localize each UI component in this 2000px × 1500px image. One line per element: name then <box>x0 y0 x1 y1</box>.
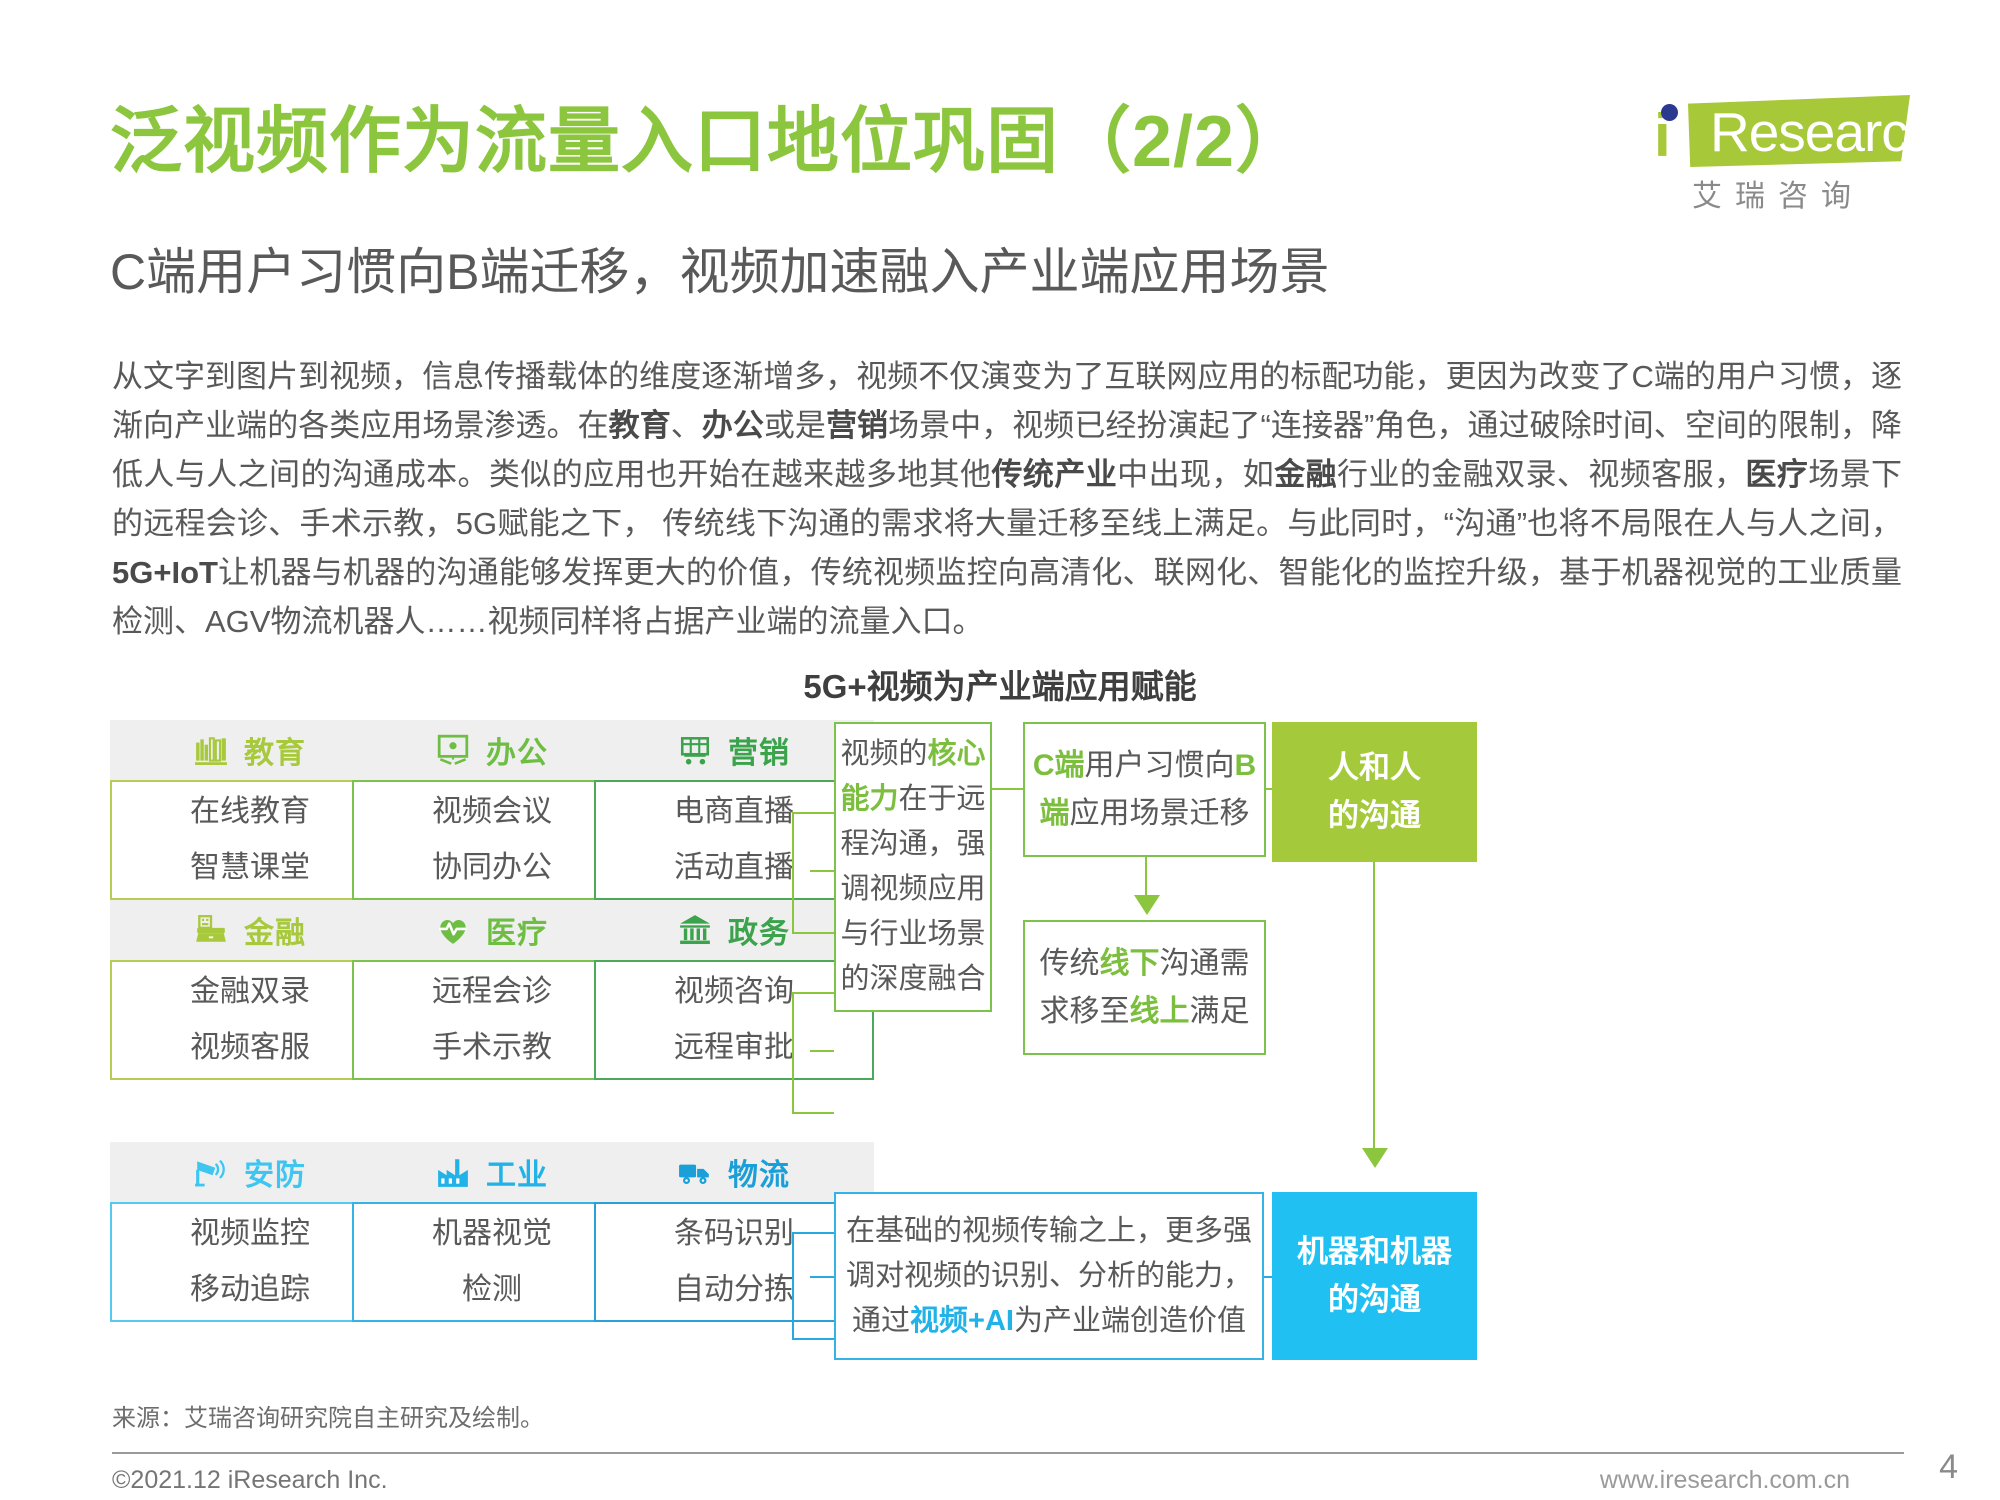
logo-wordmark: Research <box>1710 103 1937 161</box>
category-item: 在线教育 <box>190 784 310 840</box>
category-label: 金融 <box>244 908 306 952</box>
source-note: 来源：艾瑞咨询研究院自主研究及绘制。 <box>112 1398 544 1433</box>
connector-segment <box>792 992 834 994</box>
category-item: 检测 <box>462 1262 522 1318</box>
category-card-营销[interactable]: 营销电商直播活动直播 <box>594 720 874 900</box>
category-items: 视频咨询远程审批 <box>594 960 874 1080</box>
heartbeat-icon <box>436 913 470 947</box>
category-item: 自动分拣 <box>674 1262 794 1318</box>
cart-icon <box>678 733 712 767</box>
category-header: 物流 <box>594 1142 874 1202</box>
page-title: 泛视频作为流量入口地位巩固（2/2） <box>110 82 1308 187</box>
footer-divider <box>112 1452 1904 1454</box>
connector-segment <box>792 812 834 814</box>
category-items: 视频监控移动追踪 <box>110 1202 390 1322</box>
category-item: 移动追踪 <box>190 1262 310 1318</box>
factory-icon <box>436 1155 470 1189</box>
connector-segment <box>810 1050 834 1052</box>
arrow-head-icon <box>1134 895 1160 915</box>
bank-icon <box>678 913 712 947</box>
category-header: 政务 <box>594 900 874 960</box>
connector-segment <box>792 992 794 1114</box>
connector-segment <box>1264 1276 1272 1278</box>
category-header: 营销 <box>594 720 874 780</box>
category-header: 金融 <box>110 900 390 960</box>
right-bottom-box: 传统线下沟通需求移至线上满足 <box>1023 920 1266 1055</box>
category-item: 手术示教 <box>432 1020 552 1076</box>
connector-segment <box>1373 862 1375 1152</box>
cctv-icon <box>194 1155 228 1189</box>
end-green-box: 人和人的沟通 <box>1272 722 1477 862</box>
mid-green-box: 视频的核心能力在于远程沟通，强调视频应用与行业场景的深度融合 <box>834 722 992 1012</box>
category-card-金融[interactable]: 金融金融双录视频客服 <box>110 900 390 1080</box>
mid-blue-text: 在基础的视频传输之上，更多强调对视频的识别、分析的能力，通过视频+AI为产业端创… <box>836 1209 1262 1344</box>
category-label: 物流 <box>728 1150 790 1194</box>
arrow-head-icon <box>1362 1148 1388 1168</box>
category-item: 电商直播 <box>674 784 794 840</box>
category-label: 营销 <box>728 728 790 772</box>
mid-blue-box: 在基础的视频传输之上，更多强调对视频的识别、分析的能力，通过视频+AI为产业端创… <box>834 1192 1264 1360</box>
logo-dot-icon <box>1661 104 1678 121</box>
category-item: 智慧课堂 <box>190 840 310 896</box>
logo-chinese-name: 艾瑞咨询 <box>1692 171 1864 215</box>
category-items: 电商直播活动直播 <box>594 780 874 900</box>
category-label: 医疗 <box>486 908 548 952</box>
connector-segment <box>1145 857 1147 899</box>
category-label: 工业 <box>486 1150 548 1194</box>
category-label: 办公 <box>486 728 548 772</box>
category-items: 机器视觉检测 <box>352 1202 632 1322</box>
connector-segment <box>792 1232 794 1340</box>
connector-segment <box>792 1338 834 1340</box>
category-item: 视频咨询 <box>674 964 794 1020</box>
category-header: 医疗 <box>352 900 632 960</box>
iresearch-logo: i Research 艾瑞咨询 <box>1648 95 1918 205</box>
category-card-政务[interactable]: 政务视频咨询远程审批 <box>594 900 874 1080</box>
category-item: 条码识别 <box>674 1206 794 1262</box>
category-card-医疗[interactable]: 医疗远程会诊手术示教 <box>352 900 632 1080</box>
category-item: 机器视觉 <box>432 1206 552 1262</box>
website-url[interactable]: www.iresearch.com.cn <box>1600 1466 1850 1495</box>
category-label: 安防 <box>244 1150 306 1194</box>
whiteboard-icon <box>436 733 470 767</box>
end-blue-box: 机器和机器的沟通 <box>1272 1192 1477 1360</box>
category-item: 远程会诊 <box>432 964 552 1020</box>
page-subtitle: C端用户习惯向B端迁移，视频加速融入产业端应用场景 <box>110 232 1329 304</box>
connector-segment <box>792 1112 834 1114</box>
body-paragraph: 从文字到图片到视频，信息传播载体的维度逐渐增多，视频不仅演变为了互联网应用的标配… <box>112 352 1902 646</box>
category-item: 视频会议 <box>432 784 552 840</box>
category-card-教育[interactable]: 教育在线教育智慧课堂 <box>110 720 390 900</box>
category-card-安防[interactable]: 安防视频监控移动追踪 <box>110 1142 390 1322</box>
category-header: 教育 <box>110 720 390 780</box>
end-blue-text: 机器和机器的沟通 <box>1297 1228 1452 1324</box>
category-items: 条码识别自动分拣 <box>594 1202 874 1322</box>
category-card-办公[interactable]: 办公视频会议协同办公 <box>352 720 632 900</box>
category-header: 安防 <box>110 1142 390 1202</box>
copyright-text: ©2021.12 iResearch Inc. <box>112 1466 388 1495</box>
slide-page: 泛视频作为流量入口地位巩固（2/2） C端用户习惯向B端迁移，视频加速融入产业端… <box>0 0 2000 1500</box>
category-item: 活动直播 <box>674 840 794 896</box>
category-items: 视频会议协同办公 <box>352 780 632 900</box>
cashier-icon <box>194 913 228 947</box>
connector-segment <box>810 870 834 872</box>
right-top-box: C端用户习惯向B端应用场景迁移 <box>1023 722 1266 857</box>
category-label: 教育 <box>244 728 306 772</box>
category-items: 远程会诊手术示教 <box>352 960 632 1080</box>
category-item: 金融双录 <box>190 964 310 1020</box>
truck-icon <box>678 1155 712 1189</box>
connector-segment <box>792 1232 834 1234</box>
category-card-工业[interactable]: 工业机器视觉检测 <box>352 1142 632 1322</box>
connector-segment <box>992 788 1023 790</box>
right-bottom-text: 传统线下沟通需求移至线上满足 <box>1025 940 1264 1036</box>
figure-diagram: 教育在线教育智慧课堂 办公视频会议协同办公 营销电商直播活动直播 金融金融双录视… <box>110 720 1920 1360</box>
end-green-text: 人和人的沟通 <box>1328 744 1421 840</box>
category-item: 视频监控 <box>190 1206 310 1262</box>
category-header: 办公 <box>352 720 632 780</box>
figure-title: 5G+视频为产业端应用赋能 <box>0 660 2000 708</box>
category-label: 政务 <box>728 908 790 952</box>
mid-green-text: 视频的核心能力在于远程沟通，强调视频应用与行业场景的深度融合 <box>836 732 990 1002</box>
connector-segment <box>810 1276 834 1278</box>
category-items: 金融双录视频客服 <box>110 960 390 1080</box>
books-icon <box>194 733 228 767</box>
category-items: 在线教育智慧课堂 <box>110 780 390 900</box>
page-number: 4 <box>1939 1448 1958 1487</box>
category-item: 远程审批 <box>674 1020 794 1076</box>
category-item: 视频客服 <box>190 1020 310 1076</box>
connector-segment <box>792 932 834 934</box>
category-header: 工业 <box>352 1142 632 1202</box>
connector-segment <box>792 812 794 934</box>
right-top-text: C端用户习惯向B端应用场景迁移 <box>1025 742 1264 838</box>
category-item: 协同办公 <box>432 840 552 896</box>
